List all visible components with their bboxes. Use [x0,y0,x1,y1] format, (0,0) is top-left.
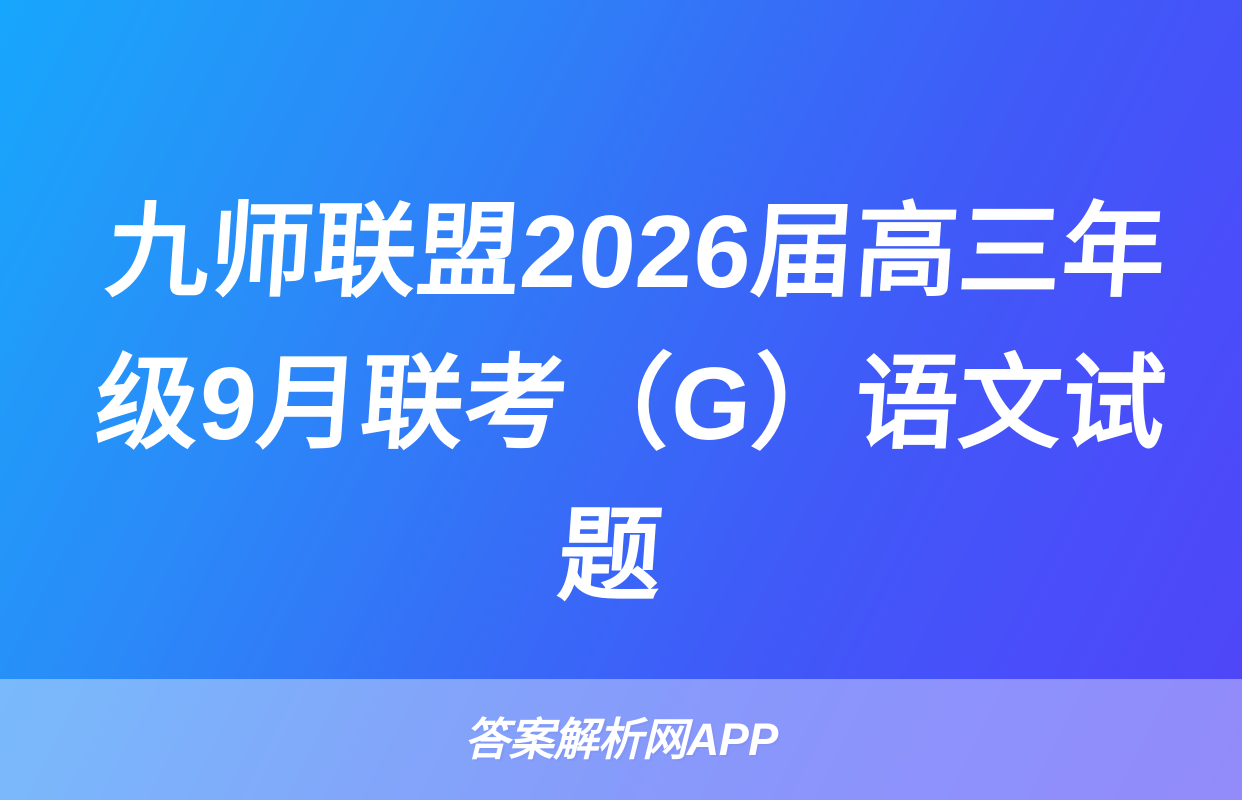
title-line-3: 题 [80,480,1141,632]
app-watermark: 答案解析网APP [0,703,1242,767]
title-line-1: 九师联盟2026届高三年 [101,176,1162,328]
poster-title: 九师联盟2026届高三年 级9月联考（G）语文试 题 [0,176,1242,632]
title-line-2: 级9月联考（G）语文试 [91,328,1152,480]
poster-canvas: 九师联盟2026届高三年 级9月联考（G）语文试 题 答案解析网APP [0,0,1242,800]
